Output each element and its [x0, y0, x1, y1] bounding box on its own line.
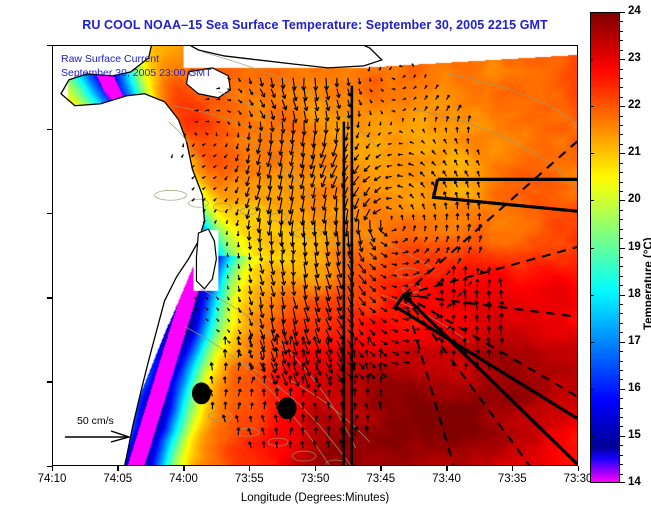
- colorbar-tick-label: 18: [628, 288, 641, 300]
- colorbar-tick: [620, 342, 625, 343]
- surface-current-vectors: [171, 64, 504, 448]
- colorbar-minor-tick: [620, 21, 623, 22]
- colorbar-tick-label: 20: [628, 193, 641, 205]
- x-tick-label: 73:55: [223, 473, 275, 485]
- x-tick-label: 74:05: [92, 473, 144, 485]
- x-tick-label: 73:40: [421, 473, 473, 485]
- x-tick: [249, 466, 251, 471]
- colorbar-tick-inner: [590, 153, 594, 154]
- colorbar-minor-tick: [620, 474, 623, 475]
- colorbar-minor-tick: [620, 87, 623, 88]
- colorbar-minor-tick: [620, 219, 623, 220]
- station-marker: [192, 382, 211, 404]
- colorbar-minor-tick: [620, 50, 623, 51]
- colorbar-tick: [620, 482, 625, 483]
- y-tick: [47, 297, 52, 299]
- x-tick-label: 73:45: [355, 473, 407, 485]
- colorbar-minor-tick: [620, 445, 623, 446]
- x-tick-label: 73:35: [486, 473, 538, 485]
- colorbar-tick-inner: [590, 389, 594, 390]
- x-tick: [578, 466, 580, 471]
- colorbar-minor-tick: [620, 257, 623, 258]
- colorbar-tick-label: 19: [628, 241, 641, 253]
- colorbar-minor-tick: [620, 361, 623, 362]
- x-tick: [512, 466, 514, 471]
- colorbar-minor-tick: [620, 351, 623, 352]
- colorbar-tick-inner: [590, 248, 594, 249]
- page-title: RU COOL NOAA–15 Sea Surface Temperature:…: [52, 18, 578, 32]
- colorbar-tick-label: 22: [628, 99, 641, 111]
- colorbar-tick-label: 21: [628, 146, 641, 158]
- station-marker: [278, 397, 297, 419]
- colorbar-minor-tick: [620, 116, 623, 117]
- colorbar-minor-tick: [620, 285, 623, 286]
- colorbar-tick-inner: [590, 436, 594, 437]
- colorbar-minor-tick: [620, 313, 623, 314]
- colorbar-minor-tick: [620, 144, 623, 145]
- colorbar-minor-tick: [620, 210, 623, 211]
- colorbar-minor-tick: [620, 163, 623, 164]
- x-axis-label: Longitude (Degrees:Minutes): [52, 492, 578, 504]
- colorbar-minor-tick: [620, 464, 623, 465]
- colorbar-minor-tick: [620, 323, 623, 324]
- colorbar-minor-tick: [620, 332, 623, 333]
- colorbar-minor-tick: [620, 370, 623, 371]
- colorbar-tick: [620, 153, 625, 154]
- colorbar-tick-inner: [590, 295, 594, 296]
- colorbar-minor-tick: [620, 238, 623, 239]
- colorbar-tick: [620, 106, 625, 107]
- colorbar-minor-tick: [620, 31, 623, 32]
- x-tick-label: 74:10: [26, 473, 78, 485]
- colorbar-title: Temperature (°C): [643, 237, 651, 330]
- x-tick: [315, 466, 317, 471]
- colorbar-minor-tick: [620, 69, 623, 70]
- colorbar-minor-tick: [620, 229, 623, 230]
- colorbar-minor-tick: [620, 398, 623, 399]
- colorbar-minor-tick: [620, 78, 623, 79]
- current-vector-arrows: [171, 64, 504, 448]
- colorbar-minor-tick: [620, 426, 623, 427]
- map-plot-area[interactable]: Raw Surface Current September 30, 2005 2…: [52, 45, 578, 466]
- colorbar-tick-inner: [590, 106, 594, 107]
- radar-coverage-solid-lines: [344, 86, 577, 465]
- colorbar-minor-tick: [620, 125, 623, 126]
- x-tick: [446, 466, 448, 471]
- colorbar-minor-tick: [620, 379, 623, 380]
- x-tick: [52, 466, 54, 471]
- colorbar-tick-label: 15: [628, 429, 641, 441]
- colorbar-tick: [620, 59, 625, 60]
- x-tick: [380, 466, 382, 471]
- y-tick: [47, 129, 52, 131]
- colorbar-minor-tick: [620, 172, 623, 173]
- colorbar-tick: [620, 389, 625, 390]
- colorbar-tick-inner: [590, 12, 594, 13]
- y-tick: [47, 381, 52, 383]
- colorbar-minor-tick: [620, 455, 623, 456]
- colorbar-tick-label: 16: [628, 382, 641, 394]
- y-tick: [47, 213, 52, 215]
- colorbar-minor-tick: [620, 40, 623, 41]
- map-overlays: [53, 46, 577, 465]
- colorbar-minor-tick: [620, 304, 623, 305]
- x-tick-label: 73:50: [289, 473, 341, 485]
- colorbar-minor-tick: [620, 182, 623, 183]
- colorbar-tick-label: 17: [628, 335, 641, 347]
- colorbar-minor-tick: [620, 97, 623, 98]
- station-markers: [192, 382, 297, 419]
- x-tick: [183, 466, 185, 471]
- colorbar-minor-tick: [620, 191, 623, 192]
- colorbar-tick-inner: [590, 482, 594, 483]
- colorbar-minor-tick: [620, 266, 623, 267]
- colorbar-minor-tick: [620, 417, 623, 418]
- colorbar-tick: [620, 200, 625, 201]
- colorbar-tick-label: 23: [628, 52, 641, 64]
- sst-map-figure: RU COOL NOAA–15 Sea Surface Temperature:…: [0, 0, 651, 519]
- colorbar-minor-tick: [620, 408, 623, 409]
- colorbar-tick-inner: [590, 200, 594, 201]
- colorbar-gradient: [590, 12, 620, 483]
- colorbar-tick-label: 14: [628, 476, 641, 488]
- colorbar-minor-tick: [620, 134, 623, 135]
- colorbar-tick-inner: [590, 59, 594, 60]
- colorbar-tick: [620, 12, 625, 13]
- colorbar-tick: [620, 295, 625, 296]
- colorbar-tick-label: 24: [628, 5, 641, 17]
- colorbar: 2423222120191817161514: [590, 12, 620, 483]
- x-tick-label: 74:00: [158, 473, 210, 485]
- y-tick: [47, 45, 52, 47]
- colorbar-tick: [620, 436, 625, 437]
- x-tick: [117, 466, 119, 471]
- colorbar-tick-inner: [590, 342, 594, 343]
- colorbar-minor-tick: [620, 276, 623, 277]
- land-mask-layer: [53, 46, 382, 465]
- radar-coverage-dashed-lines: [352, 86, 577, 465]
- colorbar-tick: [620, 248, 625, 249]
